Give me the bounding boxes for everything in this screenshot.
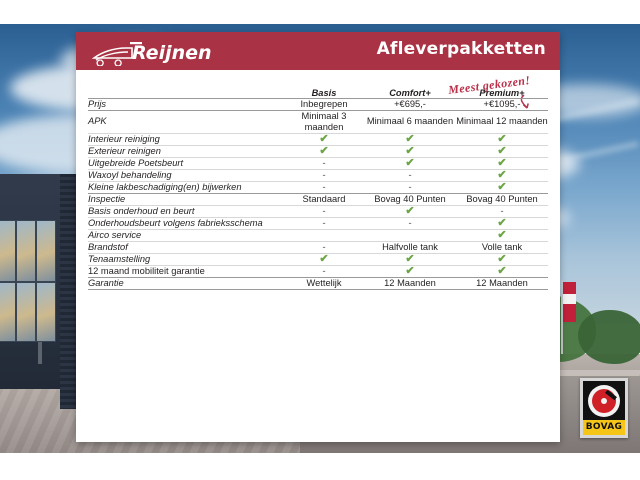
table-row: 12 maand mobiliteit garantie-✔✔ <box>88 265 548 277</box>
table-row: Onderhoudsbeurt volgens fabrieksschema--… <box>88 217 548 229</box>
table-row: Brandstof-Halfvolle tankVolle tank <box>88 241 548 253</box>
check-icon: ✔ <box>319 145 328 157</box>
table-body: PrijsInbegrepen+€695,-+€1095,-APKMinimaa… <box>88 99 548 290</box>
cell-comfort: - <box>364 169 456 181</box>
window <box>36 282 56 342</box>
col-head-basis: Basis <box>284 88 364 99</box>
table-row: Kleine lakbeschadiging(en) bijwerken--✔ <box>88 181 548 193</box>
row-label: Interieur reiniging <box>88 133 284 145</box>
cell-basis: ✔ <box>284 253 364 265</box>
check-icon: ✔ <box>319 133 328 145</box>
dash-marker: - <box>322 206 325 216</box>
dash-marker: - <box>322 218 325 228</box>
cell-basis: Inbegrepen <box>284 99 364 111</box>
dash-marker: - <box>500 206 503 216</box>
cell-premium: - <box>456 205 548 217</box>
window <box>36 220 56 282</box>
cell-comfort <box>364 229 456 241</box>
window <box>0 220 16 282</box>
dash-marker: - <box>322 266 325 276</box>
svg-text:Reijnen: Reijnen <box>132 42 212 64</box>
cell-comfort: ✔ <box>364 157 456 169</box>
cell-basis: - <box>284 241 364 253</box>
screenshot-root: Reijnen Afleverpakketten Meest gekozen! … <box>0 0 640 480</box>
col-head-premium: Premium+ <box>456 88 548 99</box>
check-icon: ✔ <box>497 169 506 181</box>
dash-marker: - <box>322 242 325 252</box>
dash-marker: - <box>322 158 325 168</box>
afleverpakketten-card: Reijnen Afleverpakketten Meest gekozen! … <box>76 32 560 442</box>
page-title: Afleverpakketten <box>377 39 546 59</box>
row-label: Airco service <box>88 229 284 241</box>
cell-basis: Minimaal 3 maanden <box>284 110 364 133</box>
cell-basis <box>284 229 364 241</box>
cell-comfort: ✔ <box>364 145 456 157</box>
check-icon: ✔ <box>405 253 414 265</box>
cell-comfort: 12 Maanden <box>364 277 456 289</box>
check-icon: ✔ <box>497 145 506 157</box>
cell-basis: - <box>284 265 364 277</box>
cell-premium: 12 Maanden <box>456 277 548 289</box>
check-icon: ✔ <box>497 181 506 193</box>
row-label: Onderhoudsbeurt volgens fabrieksschema <box>88 217 284 229</box>
cell-comfort: ✔ <box>364 133 456 145</box>
cell-premium: ✔ <box>456 217 548 229</box>
table-head: Basis Comfort+ Premium+ <box>88 88 548 99</box>
row-label: Tenaamstelling <box>88 253 284 265</box>
cell-basis: ✔ <box>284 133 364 145</box>
cell-basis: Standaard <box>284 193 364 205</box>
table-header-row: Basis Comfort+ Premium+ <box>88 88 548 99</box>
row-label: Basis onderhoud en beurt <box>88 205 284 217</box>
check-icon: ✔ <box>497 157 506 169</box>
row-label: Waxoyl behandeling <box>88 169 284 181</box>
table-row: Airco service✔ <box>88 229 548 241</box>
cell-comfort: ✔ <box>364 253 456 265</box>
cell-comfort: +€695,- <box>364 99 456 111</box>
row-label: Kleine lakbeschadiging(en) bijwerken <box>88 181 284 193</box>
dash-marker: - <box>322 170 325 180</box>
cell-basis: Wettelijk <box>284 277 364 289</box>
table-row: Waxoyl behandeling--✔ <box>88 169 548 181</box>
cell-premium: ✔ <box>456 133 548 145</box>
cell-basis: ✔ <box>284 145 364 157</box>
table-row: GarantieWettelijk12 Maanden12 Maanden <box>88 277 548 289</box>
check-icon: ✔ <box>405 205 414 217</box>
table-row: Uitgebreide Poetsbeurt-✔✔ <box>88 157 548 169</box>
cell-comfort: Halfvolle tank <box>364 241 456 253</box>
window <box>16 220 36 282</box>
row-label: Inspectie <box>88 193 284 205</box>
table-row: InspectieStandaardBovag 40 PuntenBovag 4… <box>88 193 548 205</box>
cell-comfort: Bovag 40 Punten <box>364 193 456 205</box>
cell-premium: ✔ <box>456 265 548 277</box>
card-header-bar: Reijnen Afleverpakketten <box>76 32 560 70</box>
check-icon: ✔ <box>405 265 414 277</box>
window <box>0 282 16 342</box>
check-icon: ✔ <box>497 217 506 229</box>
bovag-label: BOVAG <box>583 420 625 435</box>
cell-premium: ✔ <box>456 145 548 157</box>
check-icon: ✔ <box>497 133 506 145</box>
bovag-badge: BOVAG <box>580 378 628 438</box>
cell-basis: - <box>284 181 364 193</box>
cell-premium: ✔ <box>456 253 548 265</box>
window <box>16 282 36 342</box>
cell-comfort: Minimaal 6 maanden <box>364 110 456 133</box>
col-head-comfort: Comfort+ <box>364 88 456 99</box>
banner-flag <box>563 282 576 322</box>
cell-premium: ✔ <box>456 229 548 241</box>
cell-basis: - <box>284 217 364 229</box>
cell-basis: - <box>284 157 364 169</box>
check-icon: ✔ <box>405 145 414 157</box>
reijnen-logo: Reijnen <box>92 38 232 66</box>
dash-marker: - <box>408 182 411 192</box>
cell-premium: Minimaal 12 maanden <box>456 110 548 133</box>
table-row: Interieur reiniging✔✔✔ <box>88 133 548 145</box>
cell-premium: ✔ <box>456 169 548 181</box>
cell-premium: ✔ <box>456 181 548 193</box>
cell-premium: Bovag 40 Punten <box>456 193 548 205</box>
dash-marker: - <box>408 170 411 180</box>
cell-comfort: - <box>364 217 456 229</box>
bovag-emblem: BOVAG <box>583 381 625 435</box>
check-icon: ✔ <box>497 253 506 265</box>
cell-premium: Volle tank <box>456 241 548 253</box>
row-label: APK <box>88 110 284 133</box>
dash-marker: - <box>322 182 325 192</box>
cell-comfort: - <box>364 181 456 193</box>
row-label: 12 maand mobiliteit garantie <box>88 265 284 277</box>
table-row: PrijsInbegrepen+€695,-+€1095,- <box>88 99 548 111</box>
cell-basis: - <box>284 169 364 181</box>
check-icon: ✔ <box>405 133 414 145</box>
check-icon: ✔ <box>497 229 506 241</box>
bollard <box>38 342 42 364</box>
table-row: Exterieur reinigen✔✔✔ <box>88 145 548 157</box>
row-label: Prijs <box>88 99 284 111</box>
col-head-feature <box>88 88 284 99</box>
cell-premium: +€1095,- <box>456 99 548 111</box>
row-label: Brandstof <box>88 241 284 253</box>
row-label: Exterieur reinigen <box>88 145 284 157</box>
table-row: Basis onderhoud en beurt-✔- <box>88 205 548 217</box>
cell-comfort: ✔ <box>364 205 456 217</box>
row-label: Garantie <box>88 277 284 289</box>
table-row: APKMinimaal 3 maandenMinimaal 6 maandenM… <box>88 110 548 133</box>
cell-comfort: ✔ <box>364 265 456 277</box>
cell-basis: - <box>284 205 364 217</box>
table-row: Tenaamstelling✔✔✔ <box>88 253 548 265</box>
packages-comparison-table: Basis Comfort+ Premium+ PrijsInbegrepen+… <box>88 88 548 290</box>
check-icon: ✔ <box>405 157 414 169</box>
check-icon: ✔ <box>319 253 328 265</box>
row-label: Uitgebreide Poetsbeurt <box>88 157 284 169</box>
check-icon: ✔ <box>497 265 506 277</box>
bovag-center-dot <box>601 398 607 404</box>
dash-marker: - <box>408 218 411 228</box>
cell-premium: ✔ <box>456 157 548 169</box>
